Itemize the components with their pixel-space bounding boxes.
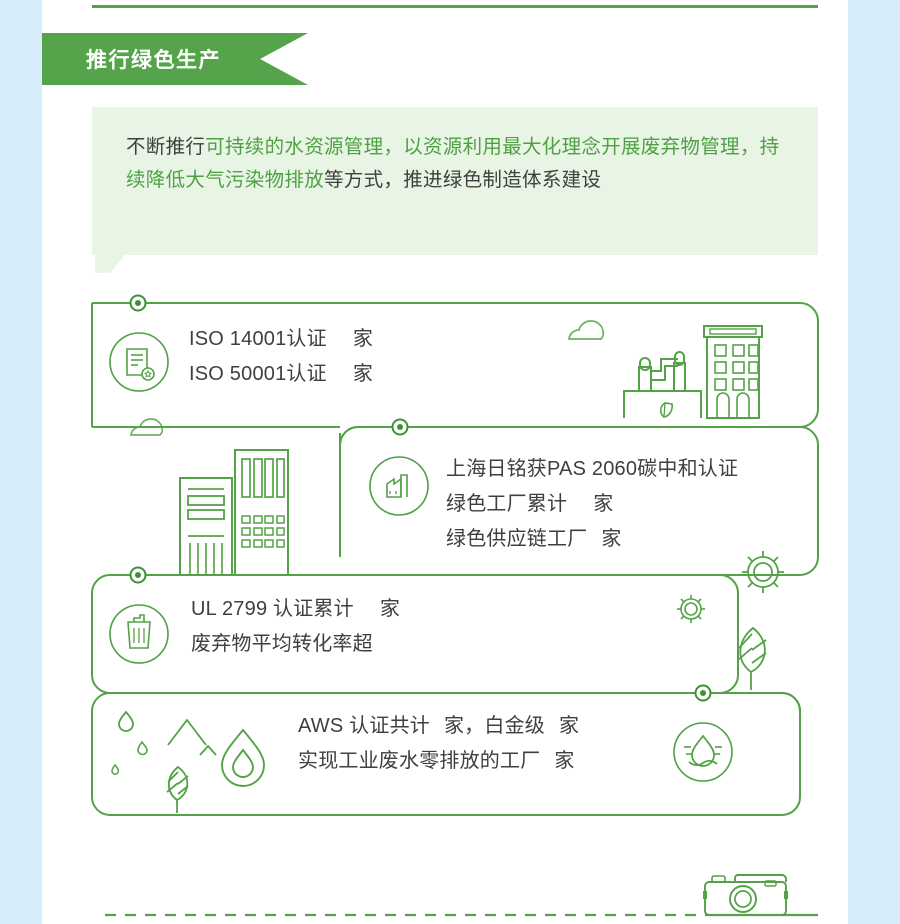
card-2-line-1: 上海日铭获PAS 2060碳中和认证: [446, 452, 738, 487]
office-buildings-illustration: [180, 450, 288, 575]
camera-icon: [705, 875, 786, 915]
timeline-node-1: [131, 296, 146, 311]
card-4-line-2-label: 实现工业废水零排放的工厂: [298, 750, 540, 772]
card-1-line-1-label: ISO 14001认证: [189, 328, 327, 350]
intro-line2-part1: 展废弃物管理: [621, 136, 740, 158]
card-1-text: ISO 14001认证家 ISO 50001认证家: [189, 322, 373, 392]
callout-tail: [95, 255, 125, 273]
card-4-line-1-label: AWS 认证共计: [298, 715, 430, 737]
card-1-line-2: ISO 50001认证家: [189, 357, 373, 392]
card-4-line-1-unit2: 家: [559, 715, 579, 737]
card-4-line-2-unit: 家: [554, 750, 574, 772]
card-2-line-3-unit: 家: [601, 528, 621, 550]
gear-icon-small: [677, 595, 705, 623]
intro-line1-part1: 不断推行: [126, 136, 205, 158]
water-droplet-icon-large: [222, 730, 264, 786]
right-blue-rail: [848, 0, 900, 924]
factory-icon: [370, 457, 428, 515]
intro-line2-part3: 等方式，推进绿: [324, 169, 463, 191]
timeline-node-4: [696, 686, 711, 701]
card-1-line-2-unit: 家: [353, 363, 373, 385]
factory-building-illustration: [624, 326, 762, 418]
card-2-text: 上海日铭获PAS 2060碳中和认证 绿色工厂累计家 绿色供应链工厂家: [446, 452, 738, 557]
water-drop-icon: [674, 723, 732, 781]
card-4-line-1-unit: 家，白金级: [444, 715, 545, 737]
trash-bin-icon: [110, 605, 168, 663]
card-2-line-2-unit: 家: [593, 493, 613, 515]
card-4-line-1: AWS 认证共计家，白金级家: [298, 709, 579, 744]
section-title: 推行绿色生产: [86, 44, 221, 74]
card-3-text: UL 2799 认证累计家 废弃物平均转化率超: [191, 592, 400, 662]
cloud-icon-top: [569, 321, 603, 339]
card-3-line-1-label: UL 2799 认证累计: [191, 598, 354, 620]
card-1-line-2-label: ISO 50001认证: [189, 363, 327, 385]
intro-paragraph: 不断推行可持续的水资源管理，以资源利用最大化理念开展废弃物管理，持续降低大气污染…: [126, 131, 784, 197]
card-4-text: AWS 认证共计家，白金级家 实现工业废水零排放的工厂家: [298, 709, 579, 779]
timeline-node-2: [393, 420, 408, 435]
card-2-line-2: 绿色工厂累计家: [446, 487, 738, 522]
card-3-line-1: UL 2799 认证累计家: [191, 592, 400, 627]
top-divider-rule: [92, 5, 818, 8]
raindrop-icon-2: [138, 742, 147, 755]
card-4-line-2: 实现工业废水零排放的工厂家: [298, 744, 579, 779]
intro-line1-part3: ，以资源利用最大化理念开: [383, 136, 621, 158]
left-blue-rail: [0, 0, 42, 924]
raindrop-icon-1: [119, 712, 133, 731]
intro-line3: 色制造体系建设: [463, 169, 602, 191]
card-3-line-2-label: 废弃物平均转化率超: [191, 633, 373, 655]
timeline-node-3: [131, 568, 146, 583]
certificate-icon: [110, 333, 168, 391]
card-3-line-2: 废弃物平均转化率超: [191, 627, 400, 662]
leaf-icon-bottom: [167, 767, 188, 813]
gear-icon-large: [742, 551, 784, 593]
card-2-line-1-label: 上海日铭获PAS 2060碳中和认证: [446, 458, 738, 480]
cloud-icon-left: [131, 419, 162, 435]
card-2-line-2-label: 绿色工厂累计: [446, 493, 567, 515]
card-2-line-3-label: 绿色供应链工厂: [446, 528, 587, 550]
mountain-icon: [168, 720, 216, 755]
section-banner: 推行绿色生产: [42, 33, 308, 85]
card-3-right: [720, 575, 738, 693]
card-1-line-1-unit: 家: [353, 328, 373, 350]
intro-line1-highlight: 可持续的水资源管理: [205, 136, 383, 158]
raindrop-icon-3: [112, 765, 118, 774]
card-2-line-3: 绿色供应链工厂家: [446, 522, 738, 557]
infographic-page: 推行绿色生产 不断推行可持续的水资源管理，以资源利用最大化理念开展废弃物管理，持…: [0, 0, 900, 924]
card-3-line-1-unit: 家: [380, 598, 400, 620]
leaf-icon-right: [738, 628, 766, 690]
intro-callout: 不断推行可持续的水资源管理，以资源利用最大化理念开展废弃物管理，持续降低大气污染…: [92, 107, 818, 255]
card-1-line-1: ISO 14001认证家: [189, 322, 373, 357]
